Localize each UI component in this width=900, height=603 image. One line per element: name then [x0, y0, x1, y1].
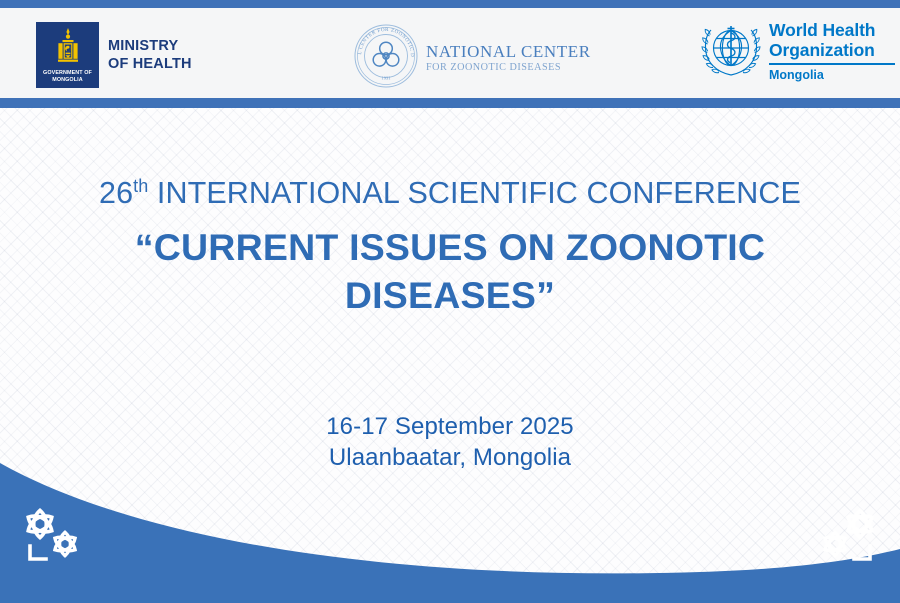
nczd-name-line-2: FOR ZOONOTIC DISEASES [426, 61, 591, 75]
triquetra-knot-corner-ornament-icon-left [16, 504, 90, 571]
event-date: 16-17 September 2025 [0, 411, 900, 442]
ministry-name-line-2: OF HEALTH [108, 55, 192, 73]
who-name-line-1: World Health [769, 21, 895, 41]
ministry-name-line-1: MINISTRY [108, 37, 192, 55]
footer-wave-decoration [0, 443, 900, 603]
svg-text:NATIONAL CENTER FOR ZOONOTIC D: NATIONAL CENTER FOR ZOONOTIC DISEASES [352, 22, 415, 57]
who-underline-rule [769, 63, 895, 65]
mongolia-soyombo-emblem-icon: GOVERNMENT OF MONGOLIA [36, 22, 99, 88]
header-separator-bar [0, 98, 900, 108]
who-rod-of-asclepius-emblem-icon [700, 22, 762, 83]
logo-ministry-of-health: GOVERNMENT OF MONGOLIA MINISTRY OF HEALT… [36, 22, 192, 88]
top-accent-bar [0, 0, 900, 8]
conference-number: 26 [99, 176, 133, 210]
nczd-biohazard-seal-icon: NATIONAL CENTER FOR ZOONOTIC DISEASES 19… [352, 22, 420, 95]
logo-national-center-zoonotic-diseases: NATIONAL CENTER FOR ZOONOTIC DISEASES 19… [352, 22, 591, 95]
nczd-name: NATIONAL CENTER FOR ZOONOTIC DISEASES [426, 42, 591, 75]
emblem-government-label: GOVERNMENT OF MONGOLIA [36, 70, 99, 84]
who-country-label: Mongolia [769, 68, 895, 82]
conference-theme-line-1: “CURRENT ISSUES ON ZOONOTIC [0, 223, 900, 271]
conference-theme: “CURRENT ISSUES ON ZOONOTIC DISEASES” [0, 223, 900, 319]
conference-title-text: INTERNATIONAL SCIENTIFIC CONFERENCE [148, 176, 801, 210]
who-name-line-2: Organization [769, 41, 895, 61]
nczd-name-line-1: NATIONAL CENTER [426, 42, 591, 61]
svg-text:1931: 1931 [381, 76, 391, 81]
ministry-of-health-name: MINISTRY OF HEALTH [108, 37, 192, 73]
conference-theme-line-2: DISEASES” [0, 271, 900, 319]
who-name: World Health Organization Mongolia [769, 21, 895, 82]
title-block: 26th INTERNATIONAL SCIENTIFIC CONFERENCE… [0, 173, 900, 319]
conference-ordinal-suffix: th [133, 176, 148, 196]
wave-blue-shape [0, 463, 900, 603]
soyombo-glyph [36, 26, 99, 66]
triquetra-knot-corner-ornament-icon-right [810, 504, 884, 571]
conference-title-slide: GOVERNMENT OF MONGOLIA MINISTRY OF HEALT… [0, 0, 900, 603]
conference-title: 26th INTERNATIONAL SCIENTIFIC CONFERENCE [0, 173, 900, 213]
logo-world-health-organization: World Health Organization Mongolia [700, 21, 895, 83]
